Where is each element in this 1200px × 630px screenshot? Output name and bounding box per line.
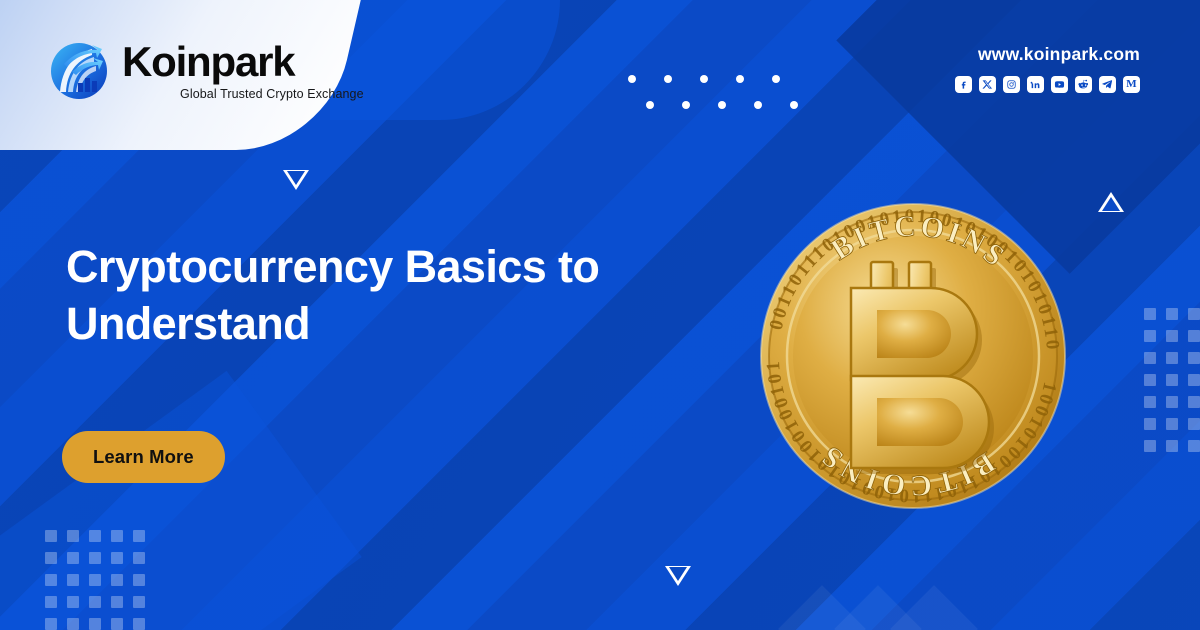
brand-logo[interactable]: Koinpark Global Trusted Crypto Exchange — [48, 40, 364, 102]
brand-name: Koinpark — [122, 41, 364, 83]
brand-tagline: Global Trusted Crypto Exchange — [180, 88, 364, 101]
learn-more-button[interactable]: Learn More — [62, 431, 225, 483]
website-url[interactable]: www.koinpark.com — [955, 44, 1140, 65]
x-twitter-icon[interactable] — [979, 76, 996, 93]
contact-block: www.koinpark.com — [955, 44, 1140, 93]
linkedin-icon[interactable] — [1027, 76, 1044, 93]
instagram-icon[interactable] — [1003, 76, 1020, 93]
square-grid-bottom-left — [45, 530, 145, 630]
diamond-pattern-bottom — [795, 598, 961, 630]
dot-pattern-top — [628, 75, 788, 115]
telegram-icon[interactable] — [1099, 76, 1116, 93]
square-grid-right — [1144, 308, 1200, 452]
youtube-icon[interactable] — [1051, 76, 1068, 93]
triangle-down-bottom-icon — [665, 566, 691, 586]
bitcoin-coin-icon: 0011011101001010100101001010101101 10010… — [757, 200, 1069, 512]
koinpark-growth-chart-icon — [48, 40, 110, 102]
social-links-row: M — [955, 76, 1140, 93]
promo-banner: Koinpark Global Trusted Crypto Exchange … — [0, 0, 1200, 630]
triangle-up-right-icon — [1098, 192, 1124, 212]
page-title: Cryptocurrency Basics to Understand — [66, 238, 726, 352]
reddit-icon[interactable] — [1075, 76, 1092, 93]
facebook-icon[interactable] — [955, 76, 972, 93]
triangle-down-left-icon — [283, 170, 309, 190]
medium-icon[interactable]: M — [1123, 76, 1140, 93]
